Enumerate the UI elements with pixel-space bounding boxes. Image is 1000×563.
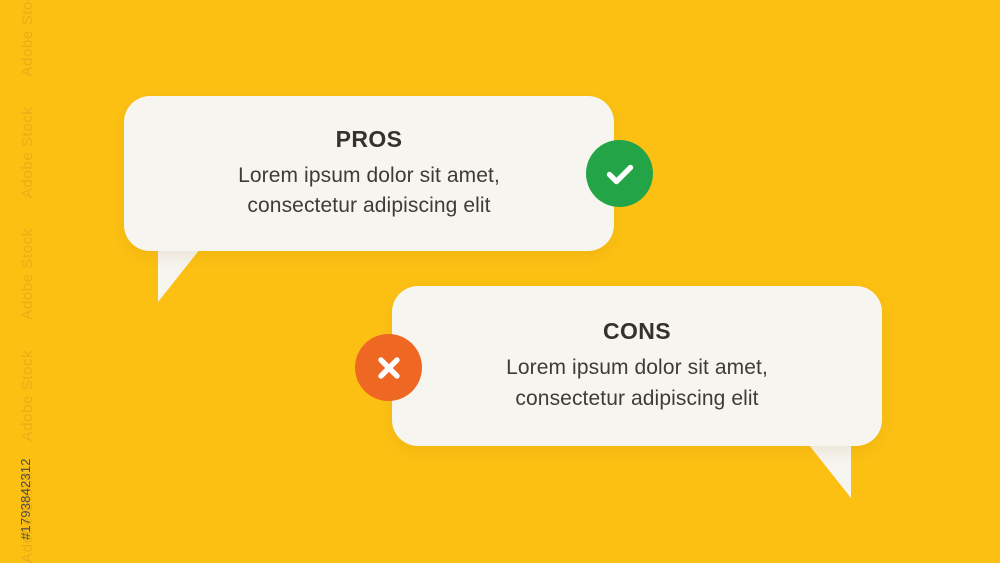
pros-title: PROS [336, 126, 403, 153]
pros-card[interactable]: PROS Lorem ipsum dolor sit amet, consect… [124, 96, 614, 251]
pros-bubble-tail [158, 244, 204, 302]
cons-title: CONS [603, 318, 671, 345]
watermark-word: Adobe Stock [19, 107, 36, 199]
watermark-word: Adobe Stock [19, 228, 36, 320]
pros-body-text: Lorem ipsum dolor sit amet, consectetur … [238, 161, 500, 222]
watermark-word: Adobe Stock [19, 0, 36, 77]
check-icon-glyph [603, 157, 637, 191]
cons-card-content: CONS Lorem ipsum dolor sit amet, consect… [392, 286, 882, 446]
poster-canvas: Adobe Stock Adobe Stock Adobe Stock Adob… [0, 0, 1000, 563]
cross-icon[interactable] [355, 334, 422, 401]
cons-card[interactable]: CONS Lorem ipsum dolor sit amet, consect… [392, 286, 882, 446]
check-icon[interactable] [586, 140, 653, 207]
cross-icon-glyph [373, 352, 405, 384]
cons-bubble-tail [805, 440, 851, 498]
cons-body-text: Lorem ipsum dolor sit amet, consectetur … [506, 353, 768, 414]
pros-card-content: PROS Lorem ipsum dolor sit amet, consect… [124, 96, 614, 251]
watermark-id: #1793842312 [18, 320, 34, 540]
watermark-column: Adobe Stock Adobe Stock Adobe Stock Adob… [0, 0, 56, 563]
